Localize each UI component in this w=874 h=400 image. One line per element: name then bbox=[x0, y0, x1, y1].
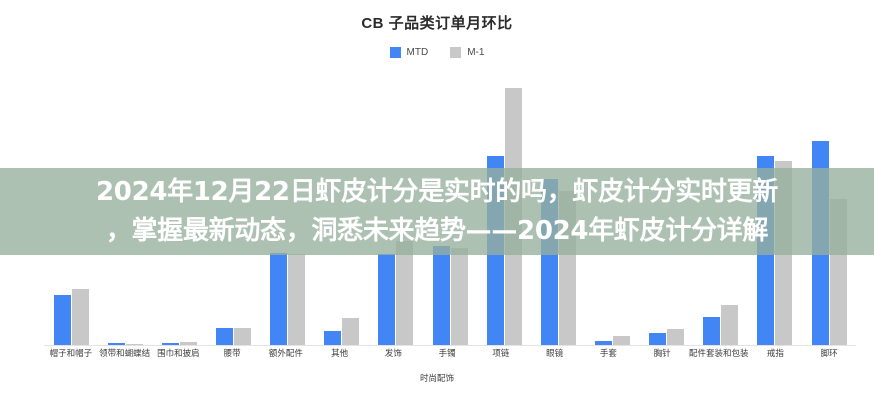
legend-swatch-m-1 bbox=[450, 47, 461, 58]
chart-title: CB 子品类订单月环比 bbox=[0, 12, 874, 33]
bar-m-1[interactable] bbox=[721, 305, 738, 346]
bar-m-1[interactable] bbox=[396, 241, 413, 346]
x-axis-label: 戒指 bbox=[749, 349, 803, 358]
bar-mtd[interactable] bbox=[54, 295, 71, 346]
bar-mtd[interactable] bbox=[216, 328, 233, 346]
x-axis-label: 胸针 bbox=[635, 349, 689, 358]
x-axis-label: 眼镜 bbox=[528, 349, 582, 358]
legend-item-m-1[interactable]: M-1 bbox=[450, 47, 484, 58]
x-axis-label: 手镯 bbox=[420, 349, 474, 358]
bar-mtd[interactable] bbox=[433, 246, 450, 346]
x-axis-line bbox=[44, 345, 856, 346]
x-axis-label: 配件套装和包装 bbox=[689, 349, 749, 358]
chart-legend: MTD M-1 bbox=[0, 47, 874, 58]
legend-label-m-1: M-1 bbox=[467, 47, 484, 58]
overlay-caption-banner: 2024年12月22日虾皮计分是实时的吗，虾皮计分实时更新 ，掌握最新动态，洞悉… bbox=[0, 168, 874, 255]
x-axis-label: 额外配件 bbox=[259, 349, 313, 358]
bar-mtd[interactable] bbox=[378, 254, 395, 346]
x-axis-label: 围巾和披肩 bbox=[152, 349, 206, 358]
bar-mtd[interactable] bbox=[703, 317, 720, 346]
legend-label-mtd: MTD bbox=[407, 47, 429, 58]
bar-m-1[interactable] bbox=[451, 248, 468, 346]
x-axis-label: 领带和蝴蝶结 bbox=[98, 349, 152, 358]
x-axis-label: 帽子和帽子 bbox=[44, 349, 98, 358]
x-axis-label: 项链 bbox=[474, 349, 528, 358]
bar-m-1[interactable] bbox=[288, 254, 305, 346]
x-axis-label: 腰带 bbox=[205, 349, 259, 358]
bar-mtd[interactable] bbox=[270, 253, 287, 346]
bar-m-1[interactable] bbox=[234, 328, 251, 346]
x-axis-label: 手套 bbox=[582, 349, 636, 358]
x-axis-label: 脚环 bbox=[802, 349, 856, 358]
legend-item-mtd[interactable]: MTD bbox=[390, 47, 429, 58]
bar-mtd[interactable] bbox=[324, 331, 341, 346]
legend-swatch-mtd bbox=[390, 47, 401, 58]
overlay-caption-line-2: ，掌握最新动态，洞悉未来趋势——2024年虾皮计分详解 bbox=[106, 212, 768, 251]
x-axis-tick-labels: 帽子和帽子领带和蝴蝶结围巾和披肩腰带额外配件其他发饰手镯项链眼镜手套胸针配件套装… bbox=[44, 349, 856, 358]
x-axis-label: 其他 bbox=[313, 349, 367, 358]
overlay-caption-line-1: 2024年12月22日虾皮计分是实时的吗，虾皮计分实时更新 bbox=[96, 173, 778, 212]
bar-m-1[interactable] bbox=[667, 329, 684, 346]
bar-m-1[interactable] bbox=[342, 318, 359, 346]
x-axis-title: 时尚配饰 bbox=[0, 372, 874, 384]
bar-m-1[interactable] bbox=[72, 289, 89, 346]
chart-container: CB 子品类订单月环比 MTD M-1 帽子和帽子领带和蝴蝶结围巾和披肩腰带额外… bbox=[0, 0, 874, 400]
x-axis-label: 发饰 bbox=[367, 349, 421, 358]
